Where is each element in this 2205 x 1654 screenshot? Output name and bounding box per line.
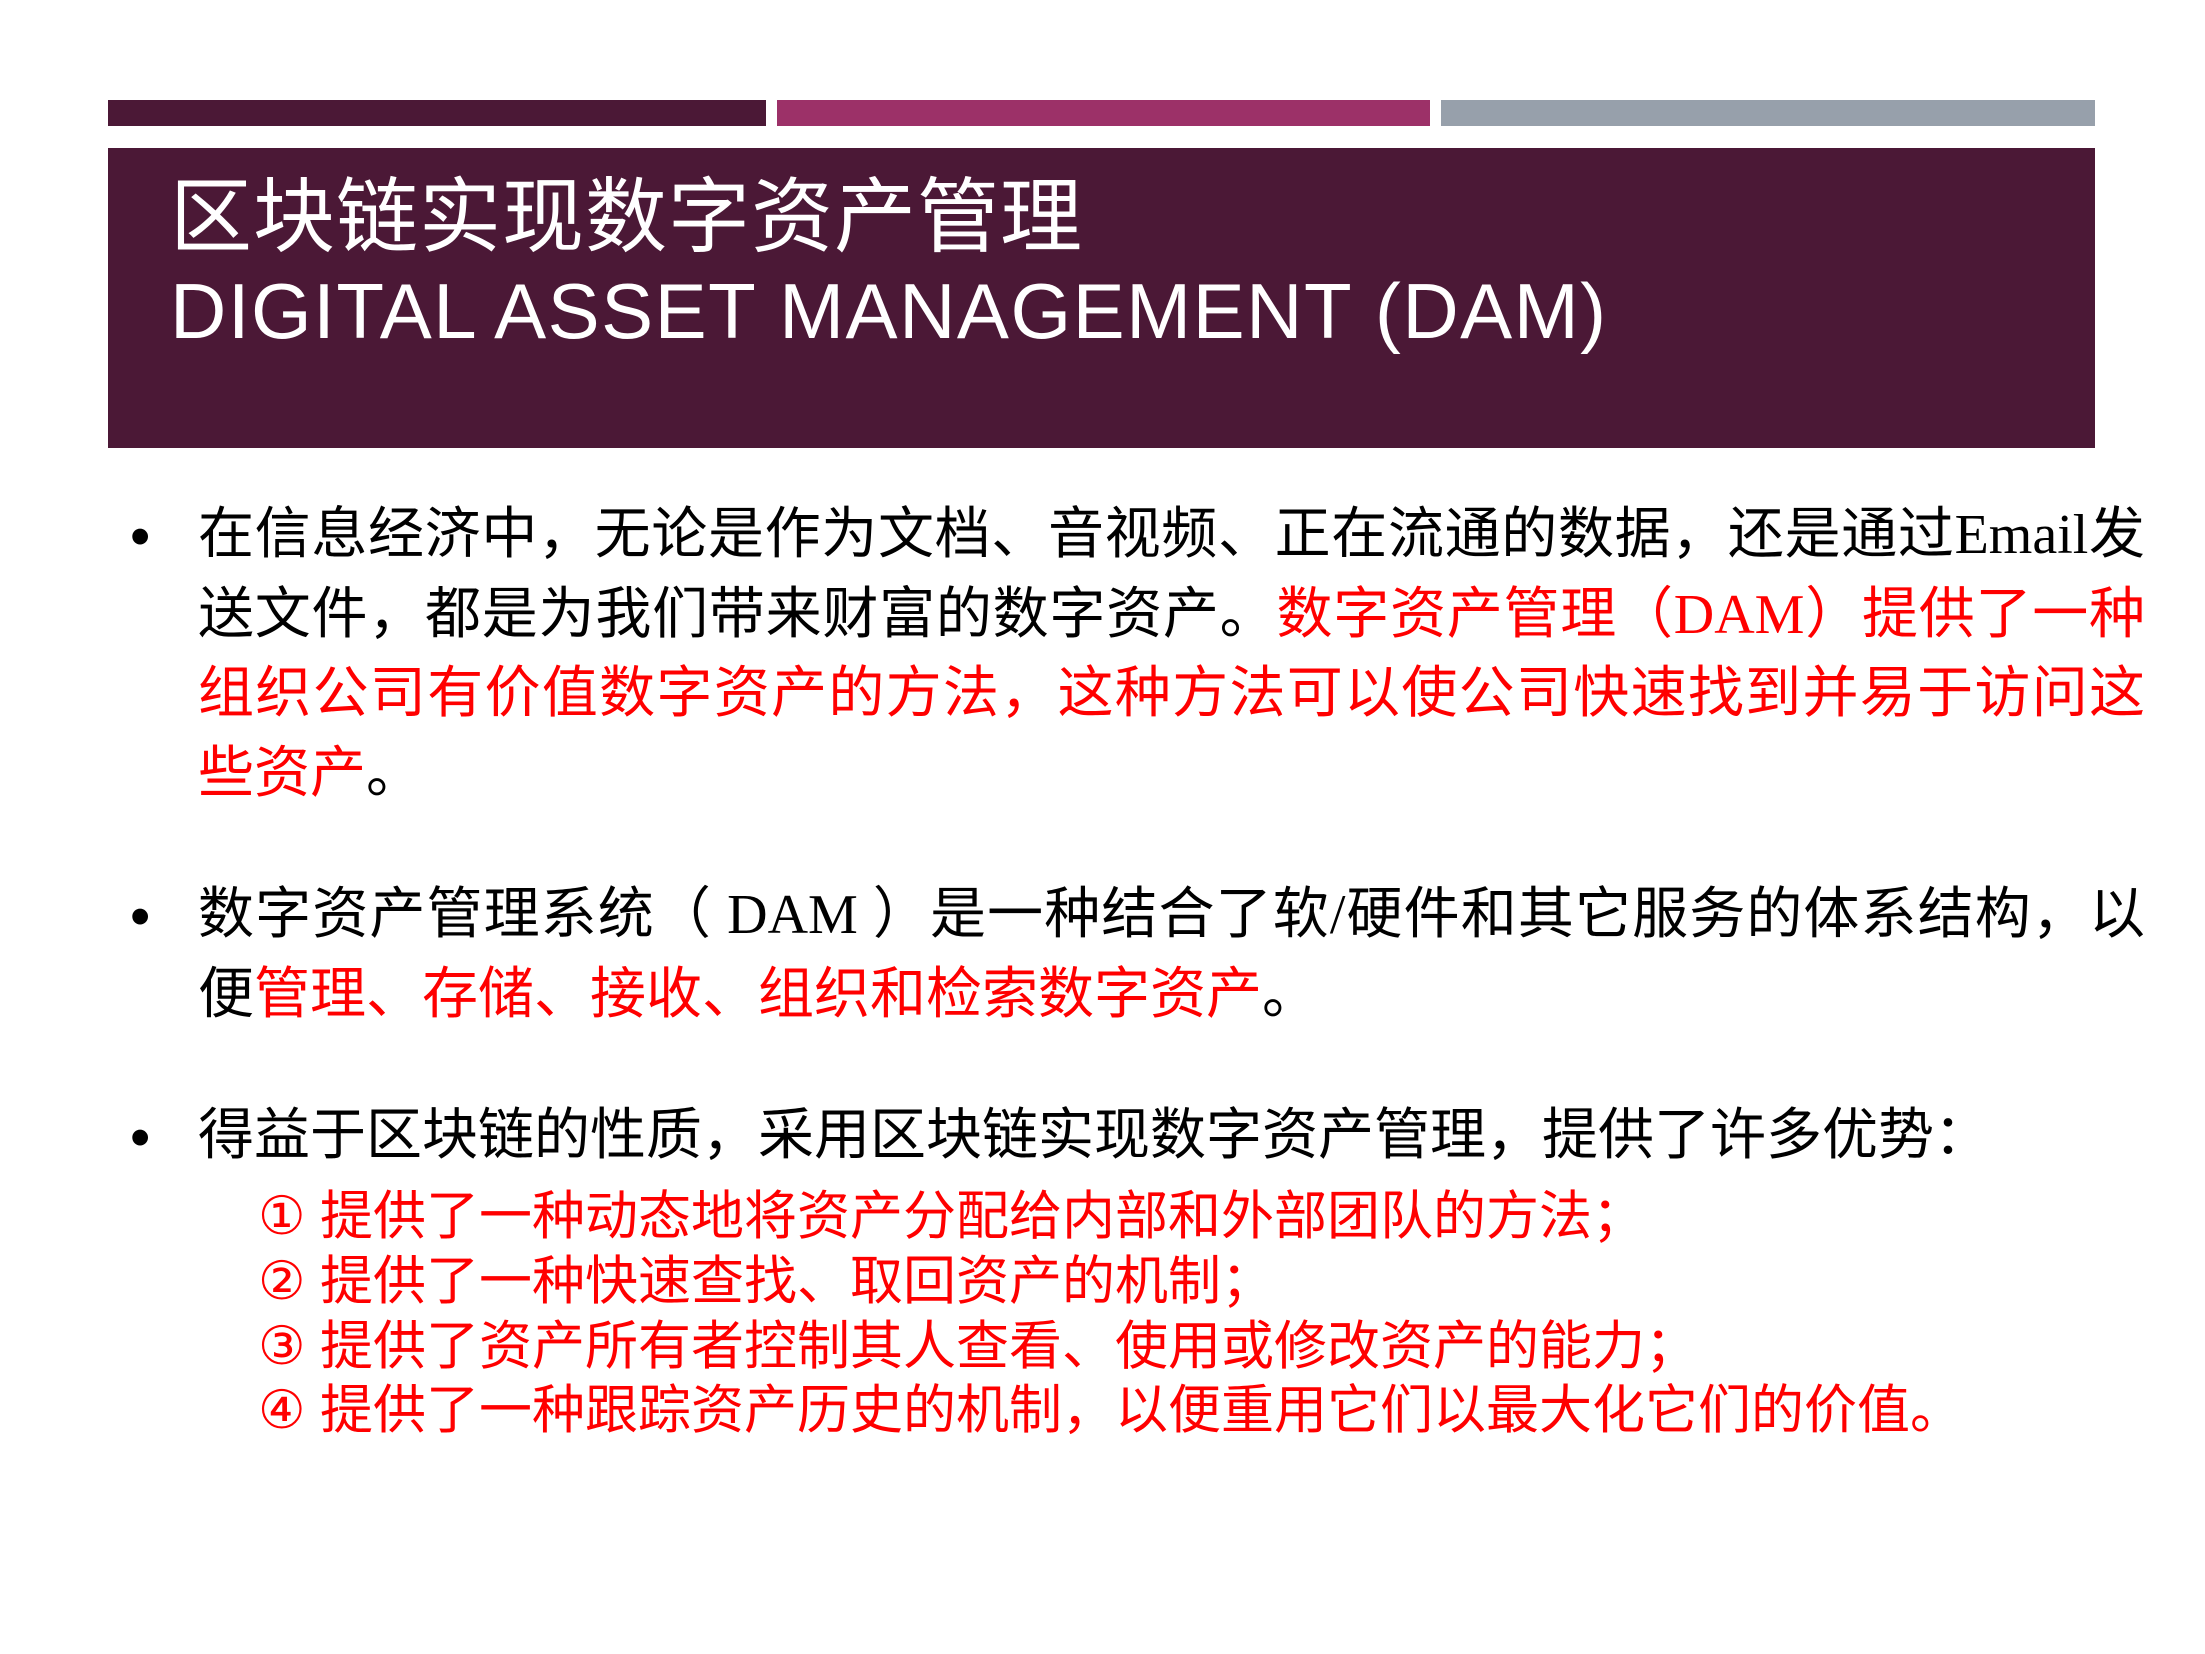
bullet-marker-icon: • — [130, 1097, 198, 1179]
decor-bar-dark — [108, 100, 766, 126]
numbered-item-4: ④ 提供了一种跟踪资产历史的机制，以便重用它们以最大化它们的价值。 — [258, 1379, 2145, 1444]
numbered-item-2-label: 提供了一种快速查找、取回资产的机制； — [320, 1250, 2145, 1315]
slide-title-english: DIGITAL ASSET MANAGEMENT (DAM) — [170, 268, 2095, 355]
circled-number-4-icon: ④ — [258, 1379, 320, 1444]
numbered-item-1-label: 提供了一种动态地将资产分配给内部和外部团队的方法； — [320, 1185, 2145, 1250]
bullet-marker-icon: • — [130, 876, 198, 958]
bullet-1-segment-3: 。 — [366, 743, 422, 805]
spacer-2 — [0, 1035, 2205, 1097]
decor-bar-gray — [1441, 100, 2095, 126]
bullet-text-3: 得益于区块链的性质，采用区块链实现数字资产管理，提供了许多优势： — [198, 1097, 2145, 1177]
bullet-text-1: 在信息经济中，无论是作为文档、音视频、正在流通的数据，还是通过Email发送文件… — [198, 496, 2145, 814]
numbered-list: ① 提供了一种动态地将资产分配给内部和外部团队的方法； ② 提供了一种快速查找、… — [0, 1179, 2205, 1444]
bullet-2-segment-3: 。 — [1262, 964, 1318, 1026]
numbered-item-4-label: 提供了一种跟踪资产历史的机制，以便重用它们以最大化它们的价值。 — [320, 1379, 2145, 1444]
bullet-text-2: 数字资产管理系统（ DAM ）是一种结合了软/硬件和其它服务的体系结构，以便管理… — [198, 876, 2145, 1035]
numbered-item-2: ② 提供了一种快速查找、取回资产的机制； — [258, 1250, 2145, 1315]
numbered-item-3: ③ 提供了资产所有者控制其人查看、使用或修改资产的能力； — [258, 1315, 2145, 1380]
decor-bar-magenta — [777, 100, 1430, 126]
slide-body: • 在信息经济中，无论是作为文档、音视频、正在流通的数据，还是通过Email发送… — [0, 496, 2205, 1444]
bullet-2-segment-2: 管理、存储、接收、组织和检索数字资产 — [254, 964, 1262, 1026]
circled-number-2-icon: ② — [258, 1250, 320, 1315]
bullet-item-3: • 得益于区块链的性质，采用区块链实现数字资产管理，提供了许多优势： — [0, 1097, 2205, 1179]
circled-number-1-icon: ① — [258, 1185, 320, 1250]
slide-title-block: 区块链实现数字资产管理 DIGITAL ASSET MANAGEMENT (DA… — [108, 148, 2095, 448]
numbered-item-3-label: 提供了资产所有者控制其人查看、使用或修改资产的能力； — [320, 1315, 2145, 1380]
spacer-1 — [0, 814, 2205, 876]
bullet-item-2: • 数字资产管理系统（ DAM ）是一种结合了软/硬件和其它服务的体系结构，以便… — [0, 876, 2205, 1035]
circled-number-3-icon: ③ — [258, 1315, 320, 1380]
slide-title-chinese: 区块链实现数字资产管理 — [170, 172, 2095, 264]
bullet-3-segment-1: 得益于区块链的性质，采用区块链实现数字资产管理，提供了许多优势： — [198, 1105, 1990, 1167]
numbered-item-1: ① 提供了一种动态地将资产分配给内部和外部团队的方法； — [258, 1185, 2145, 1250]
bullet-item-1: • 在信息经济中，无论是作为文档、音视频、正在流通的数据，还是通过Email发送… — [0, 496, 2205, 814]
bullet-marker-icon: • — [130, 496, 198, 578]
